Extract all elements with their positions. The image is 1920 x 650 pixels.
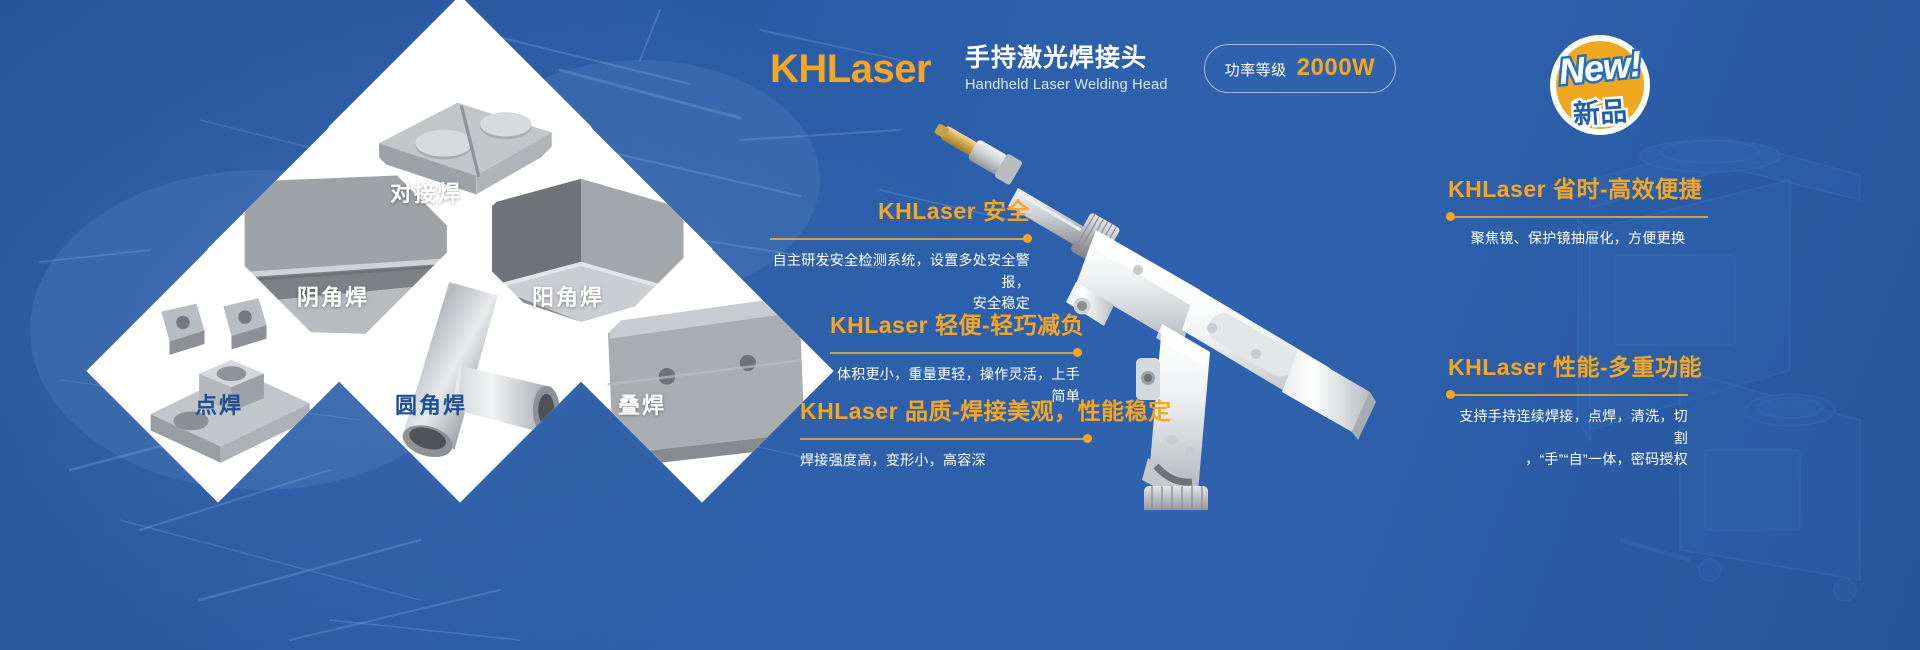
feature-callout-quality: KHLaser 品质-焊接美观，性能稳定 焊接强度高，变形小，高容深 <box>800 392 1090 472</box>
product-title-cn: 手持激光焊接头 <box>965 44 1168 73</box>
feature-dot-time-saving <box>1446 212 1455 221</box>
feature-rule-quality <box>800 432 1090 446</box>
power-rating-label: 功率等级 <box>1225 59 1287 80</box>
svg-text:New!: New! <box>1557 43 1644 92</box>
weld-label-outer-fillet-weld: 阳角焊 <box>532 280 604 312</box>
brand-logo: KHLaser <box>770 49 931 89</box>
weld-label-lap-weld: 叠焊 <box>618 388 666 420</box>
feature-callout-time-saving: KHLaser 省时-高效便捷 聚焦镜、保护镜抽屉化，方便更换 <box>1448 170 1708 250</box>
feature-desc-performance: 支持手持连续焊接，点焊，清洗，切割 ，“手”“自”一体，密码授权 <box>1448 406 1688 471</box>
promo-banner: 对接焊 阴角焊 阳角焊 点焊 圆角焊 叠焊 KHLaser 手持激光焊接头 Ha… <box>0 0 1920 650</box>
brand-header: KHLaser 手持激光焊接头 Handheld Laser Welding H… <box>770 44 1396 93</box>
power-rating-badge: 功率等级 2000W <box>1204 44 1397 93</box>
feature-desc-time-saving: 聚焦镜、保护镜抽屉化，方便更换 <box>1448 228 1708 250</box>
feature-callout-safety: KHLaser 安全 自主研发安全检测系统，设置多处安全警报， 安全稳定 <box>770 192 1030 315</box>
power-rating-value: 2000W <box>1297 54 1376 82</box>
feature-title-performance: KHLaser 性能-多重功能 <box>1448 348 1688 382</box>
weld-label-round-fillet-weld: 圆角焊 <box>395 388 467 420</box>
weld-label-butt-weld: 对接焊 <box>390 176 462 208</box>
feature-title-quality: KHLaser 品质-焊接美观，性能稳定 <box>800 392 1090 426</box>
sticker-text-cn: 新品 <box>1572 95 1628 131</box>
feature-title-lightweight: KHLaser 轻便-轻巧减负 <box>830 306 1080 340</box>
feature-rule-time-saving <box>1448 210 1708 224</box>
feature-dot-performance <box>1446 390 1455 399</box>
weld-label-spot-weld: 点焊 <box>195 388 243 420</box>
feature-desc-quality: 焊接强度高，变形小，高容深 <box>800 450 1090 472</box>
feature-rule-safety <box>770 232 1030 246</box>
new-product-sticker: New! New! 新品 <box>1540 30 1660 140</box>
feature-rule-lightweight <box>830 346 1080 360</box>
product-title: 手持激光焊接头 Handheld Laser Welding Head <box>965 44 1168 93</box>
feature-title-time-saving: KHLaser 省时-高效便捷 <box>1448 170 1708 204</box>
feature-dot-quality <box>1083 434 1092 443</box>
feature-rule-performance <box>1448 388 1688 402</box>
feature-title-safety: KHLaser 安全 <box>770 192 1030 226</box>
weld-label-inner-fillet-weld: 阴角焊 <box>297 280 369 312</box>
feature-dot-lightweight <box>1073 348 1082 357</box>
feature-callout-performance: KHLaser 性能-多重功能 支持手持连续焊接，点焊，清洗，切割 ，“手”“自… <box>1448 348 1688 471</box>
feature-dot-safety <box>1023 234 1032 243</box>
product-title-en: Handheld Laser Welding Head <box>965 77 1168 93</box>
weld-type-diamond-grid: 对接焊 阴角焊 阳角焊 点焊 圆角焊 叠焊 <box>140 48 780 538</box>
